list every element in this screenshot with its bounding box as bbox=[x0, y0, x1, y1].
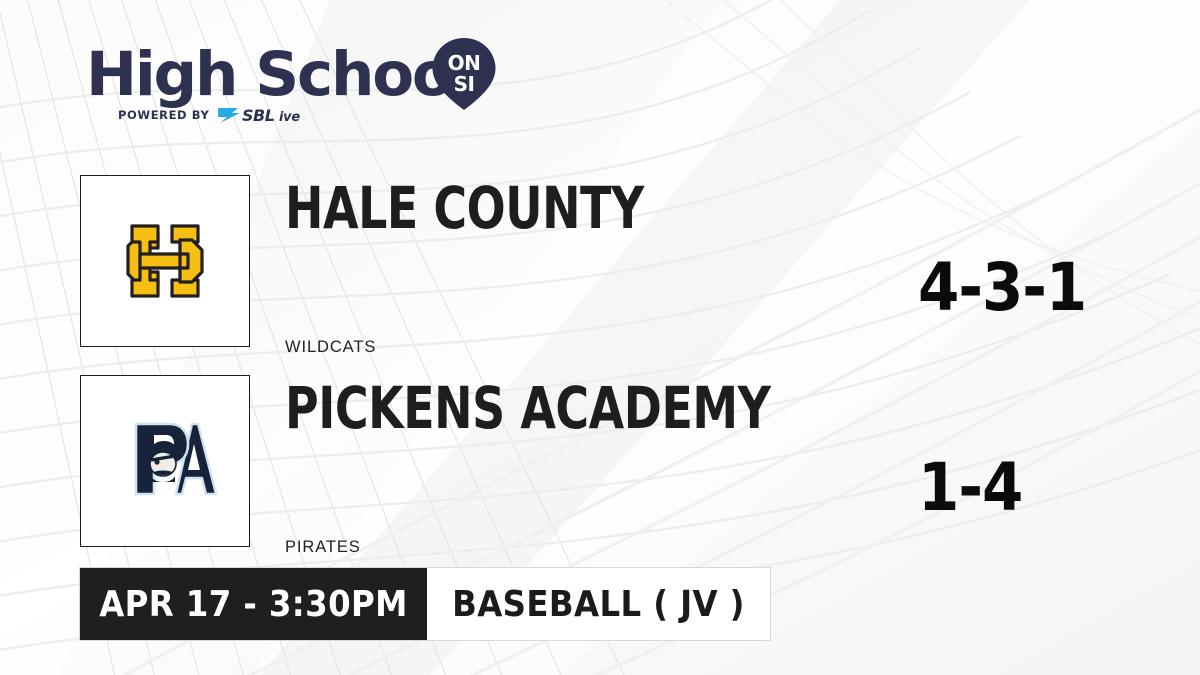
team-name: HALE COUNTY bbox=[285, 179, 644, 237]
game-datetime: APR 17 - 3:30PM bbox=[80, 568, 427, 640]
sblive-logo-icon: SBL ive bbox=[216, 104, 320, 126]
powered-by-sblive: POWERED BY SBL ive bbox=[118, 104, 320, 126]
svg-text:SBL: SBL bbox=[242, 106, 275, 125]
team-mascot: PIRATES bbox=[285, 538, 361, 557]
high-school-on-si-wordmark: High School bbox=[86, 44, 470, 105]
team-record: 1-4 bbox=[918, 455, 1022, 521]
powered-by-label: POWERED BY bbox=[118, 108, 209, 122]
on-si-pin-icon: ON SI bbox=[428, 37, 500, 111]
pa-pirate-monogram-icon bbox=[106, 402, 224, 520]
team-logo-pickens-academy bbox=[80, 375, 250, 547]
hc-monogram-icon bbox=[106, 202, 224, 320]
matchup-graphic: High School ON SI POWERED BY SBL ive bbox=[0, 0, 1200, 675]
svg-text:SI: SI bbox=[454, 72, 475, 96]
team-name: PICKENS ACADEMY bbox=[285, 379, 770, 437]
game-info-bar: APR 17 - 3:30PM BASEBALL ( JV ) bbox=[80, 568, 770, 640]
team-record: 4-3-1 bbox=[918, 255, 1086, 321]
team-mascot: WILDCATS bbox=[285, 338, 376, 357]
team-logo-hale-county bbox=[80, 175, 250, 347]
game-sport: BASEBALL ( JV ) bbox=[427, 568, 770, 640]
svg-text:ive: ive bbox=[279, 110, 300, 125]
